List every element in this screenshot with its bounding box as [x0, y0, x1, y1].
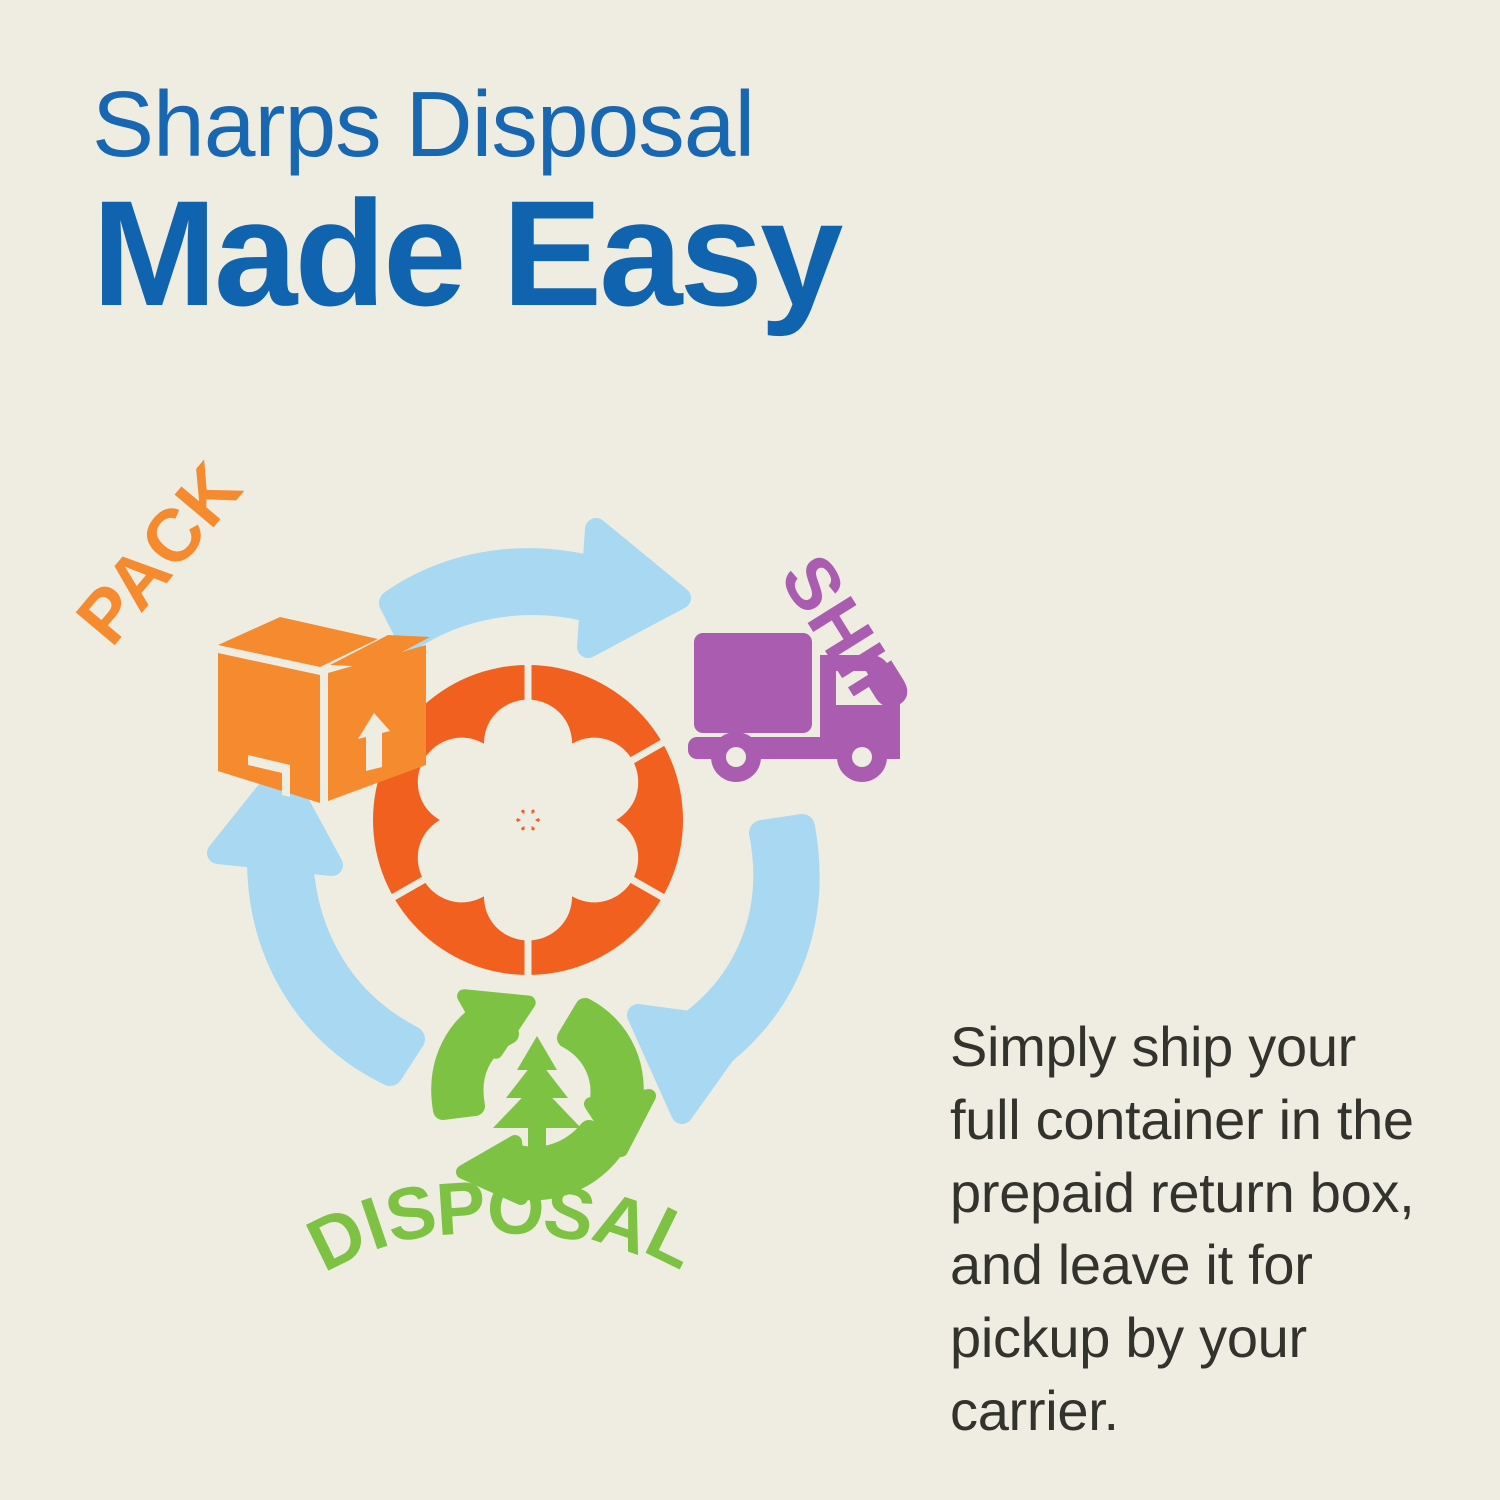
description-text: Simply ship your full container in the p… [950, 1011, 1420, 1448]
heading-block: Sharps Disposal Made Easy [92, 78, 1072, 330]
arrow-pack-to-ship-icon [392, 529, 680, 647]
infographic-canvas: Sharps Disposal Made Easy [0, 0, 1500, 1500]
shipping-box-icon [218, 617, 430, 803]
stage-label-disposal: DISPOSAL [310, 1165, 696, 1250]
page-title: Made Easy [92, 177, 1072, 330]
page-subtitle: Sharps Disposal [92, 78, 1072, 171]
stage-label-disposal-char: P [434, 1164, 490, 1252]
